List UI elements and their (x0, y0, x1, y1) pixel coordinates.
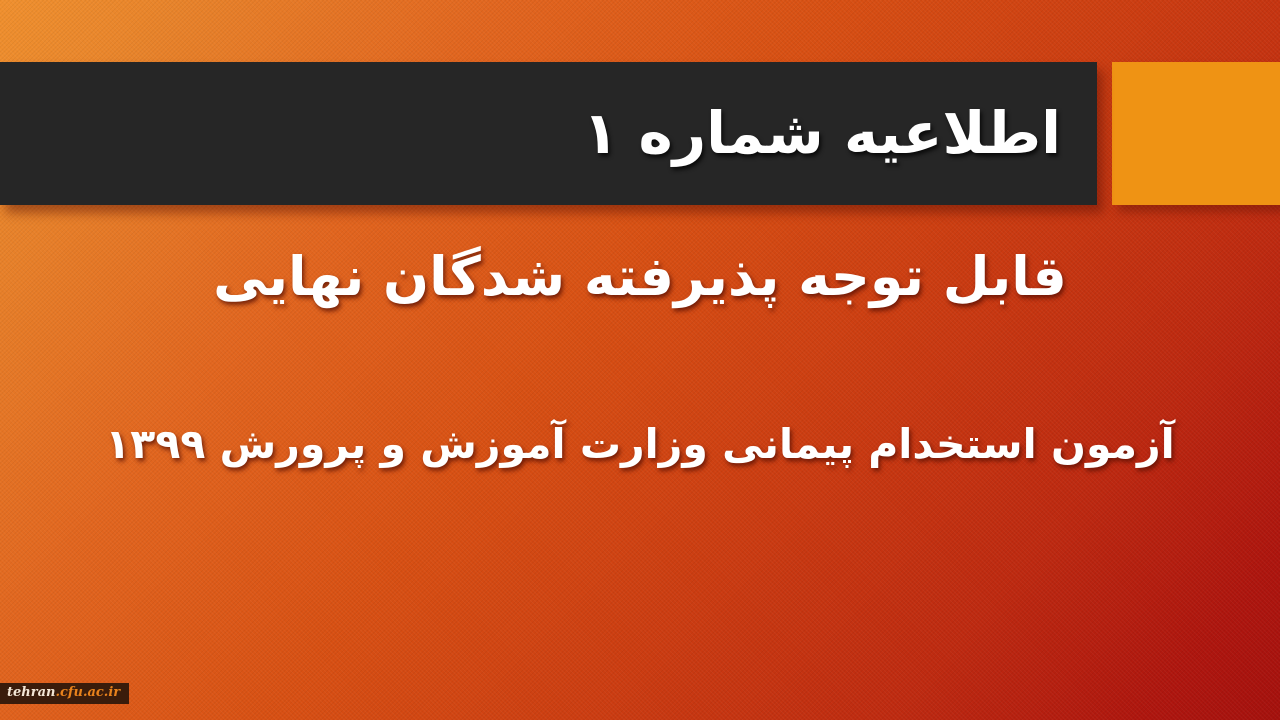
announcement-slide: اطلاعیه شماره ۱ قابل توجه پذیرفته شدگان … (0, 0, 1280, 720)
title-banner: اطلاعیه شماره ۱ (0, 62, 1097, 205)
watermark-site-domain: .cfu.ac.ir (55, 685, 120, 700)
body-content: قابل توجه پذیرفته شدگان نهایی آزمون استخ… (0, 226, 1280, 646)
accent-block (1112, 62, 1280, 205)
subheadline: آزمون استخدام پیمانی وزارت آموزش و پرورش… (88, 418, 1192, 471)
headline: قابل توجه پذیرفته شدگان نهایی (88, 244, 1192, 310)
banner-title: اطلاعیه شماره ۱ (583, 100, 1061, 167)
watermark-site-name: tehran (7, 685, 55, 700)
site-watermark: tehran.cfu.ac.ir (0, 683, 129, 704)
